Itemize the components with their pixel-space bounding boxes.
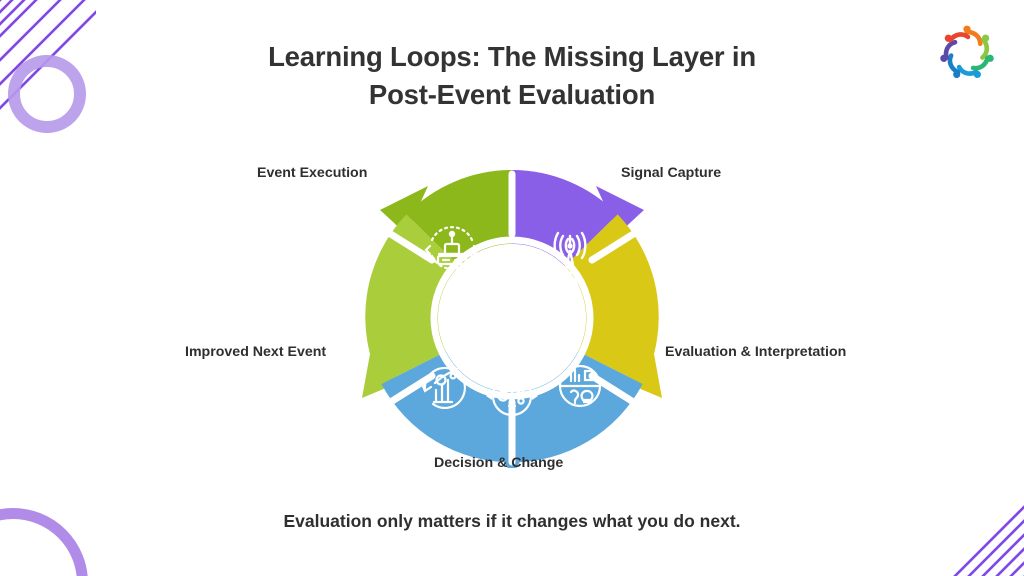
footer-tagline: Evaluation only matters if it changes wh… <box>0 511 1024 532</box>
label-signal-capture: Signal Capture <box>621 165 721 181</box>
label-decision-change: Decision & Change <box>434 455 563 471</box>
page-title-line-2: Post-Event Evaluation <box>0 76 1024 114</box>
donut-center-hole <box>438 244 586 392</box>
page-title-line-1: Learning Loops: The Missing Layer in <box>0 38 1024 76</box>
page-title: Learning Loops: The Missing Layer in Pos… <box>0 38 1024 113</box>
label-event-execution: Event Execution <box>257 165 367 181</box>
slide-canvas: Learning Loops: The Missing Layer in Pos… <box>0 0 1024 576</box>
label-improved-next-event: Improved Next Event <box>185 344 326 360</box>
label-evaluation-interpretation: Evaluation & Interpretation <box>665 344 846 360</box>
learning-loop-donut-diagram <box>352 168 672 468</box>
